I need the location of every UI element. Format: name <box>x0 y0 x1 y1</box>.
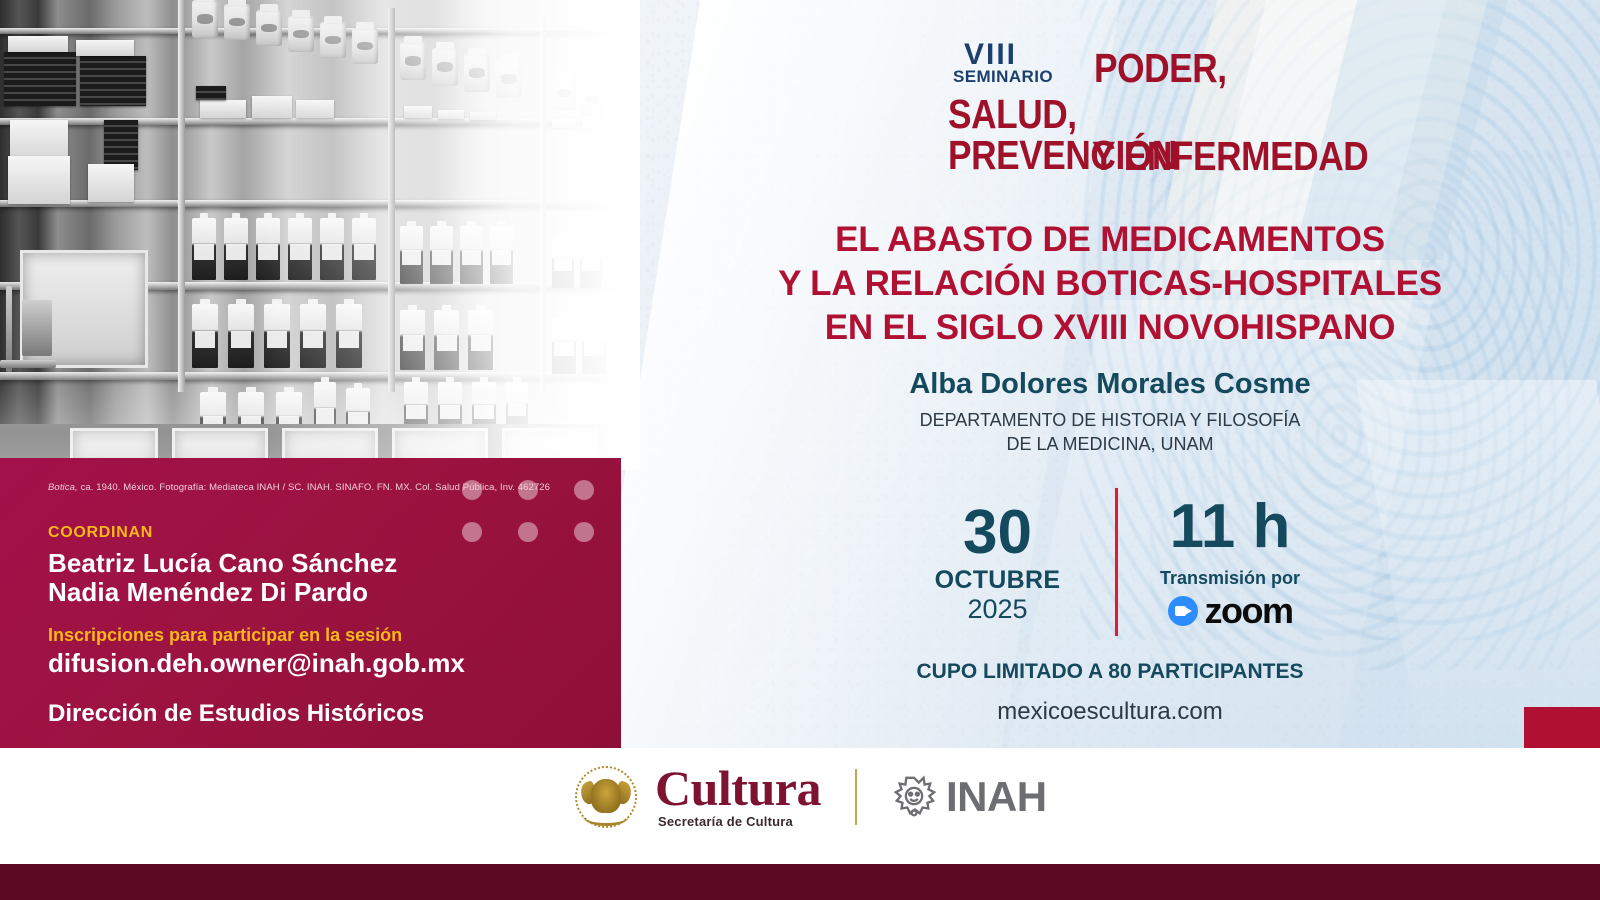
cultura-subtitle: Secretaría de Cultura <box>658 814 821 829</box>
seminar-label: SEMINARIO <box>953 67 1053 87</box>
coordinators-label: COORDINAN <box>48 524 153 542</box>
photo-credit-details: ca. 1940. México. Fotografía: Mediateca … <box>78 482 550 493</box>
speaker-name: Alba Dolores Morales Cosme <box>700 368 1520 401</box>
seminar-title-line-1: PODER, <box>1094 48 1227 89</box>
photo-fade-overlay-vertical <box>0 0 640 470</box>
footer-logos: Cultura Secretaría de Cultura <box>0 748 1600 864</box>
inah-logo: INAH <box>891 773 1047 821</box>
vertical-divider <box>1115 488 1118 636</box>
photo-credit-title: Botica, <box>48 482 78 493</box>
botica-photograph <box>0 0 640 470</box>
zoom-logo: zoom <box>1135 592 1325 630</box>
event-year: 2025 <box>900 594 1095 625</box>
capacity-notice: CUPO LIMITADO A 80 PARTICIPANTES <box>760 660 1460 684</box>
poster-canvas: Botica, ca. 1940. México. Fotografía: Me… <box>0 0 1600 900</box>
coordinator-name-1: Beatriz Lucía Cano Sánchez <box>48 548 397 579</box>
zoom-wordmark: zoom <box>1205 590 1293 632</box>
inah-glyph-icon <box>891 774 937 820</box>
talk-title-line-1: EL ABASTO DE MEDICAMENTOS <box>700 218 1520 262</box>
footer-divider <box>855 769 857 825</box>
seminar-title-line-3: Y ENFERMEDAD <box>1092 136 1368 177</box>
event-month: OCTUBRE <box>900 566 1095 595</box>
event-day: 30 <box>900 502 1095 564</box>
mexican-coat-of-arms-icon <box>575 766 637 828</box>
video-camera-icon <box>1168 596 1198 626</box>
organizing-department: Dirección de Estudios Históricos <box>48 700 424 728</box>
date-time-block: 30 OCTUBRE 2025 11 h Transmisión por zoo… <box>900 488 1320 638</box>
cultura-wordmark: Cultura <box>655 764 821 812</box>
speaker-affiliation-line-1: DEPARTAMENTO DE HISTORIA Y FILOSOFÍA <box>700 408 1520 432</box>
photo-credit: Botica, ca. 1940. México. Fotografía: Me… <box>48 482 550 493</box>
event-hour: 11 h <box>1135 496 1325 558</box>
registration-email-link[interactable]: difusion.deh.owner@inah.gob.mx <box>48 648 465 679</box>
broadcast-label: Transmisión por <box>1135 568 1325 589</box>
speaker-affiliation: DEPARTAMENTO DE HISTORIA Y FILOSOFÍA DE … <box>700 408 1520 456</box>
seminar-edition-number: VIII <box>964 40 1017 70</box>
seminar-header: VIII SEMINARIO PODER, SALUD, PREVENCIÓN … <box>948 42 1368 172</box>
inah-wordmark: INAH <box>946 773 1047 821</box>
bottom-accent-bar <box>0 864 1600 900</box>
talk-title-line-3: EN EL SIGLO XVIII NOVOHISPANO <box>700 306 1520 350</box>
speaker-affiliation-line-2: DE LA MEDICINA, UNAM <box>700 432 1520 456</box>
talk-title-line-2: Y LA RELACIÓN BOTICAS-HOSPITALES <box>700 262 1520 306</box>
cultura-logo: Cultura Secretaría de Cultura <box>655 764 821 829</box>
website-link[interactable]: mexicoescultura.com <box>760 698 1460 726</box>
coordinator-name-2: Nadia Menéndez Di Pardo <box>48 577 368 608</box>
registration-label: Inscripciones para participar en la sesi… <box>48 625 402 646</box>
talk-title: EL ABASTO DE MEDICAMENTOS Y LA RELACIÓN … <box>700 218 1520 349</box>
